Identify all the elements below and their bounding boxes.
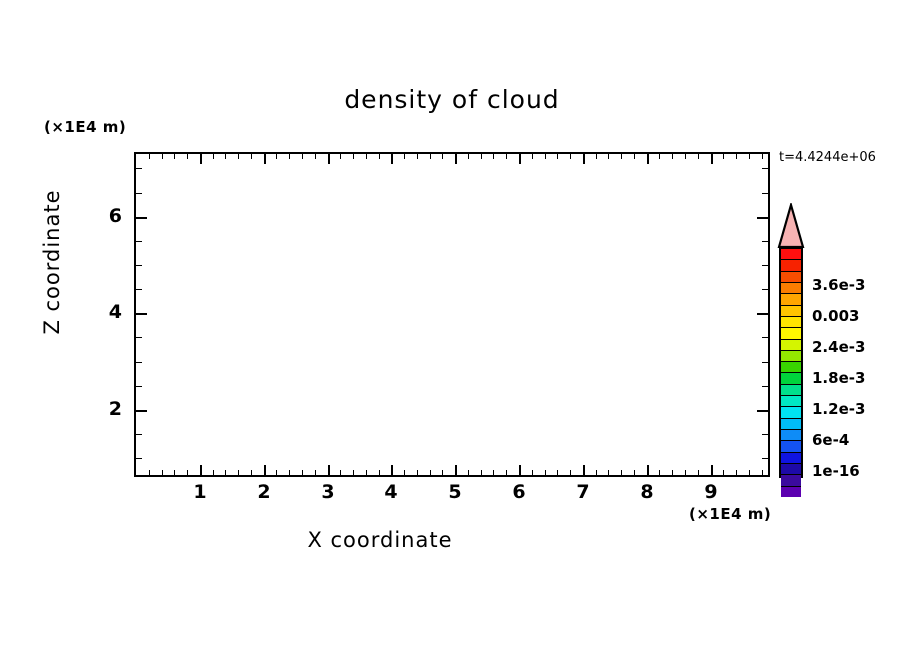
colorbar-tick-label: 1.8e-3 xyxy=(812,369,865,387)
colorbar-label-group: 1e-166e-41.2e-31.8e-32.4e-30.0033.6e-3 xyxy=(0,0,904,654)
colorbar-tick-label: 1e-16 xyxy=(812,462,860,480)
colorbar-tick-label: 0.003 xyxy=(812,307,859,325)
colorbar-tick-label: 3.6e-3 xyxy=(812,276,865,294)
colorbar-tick-label: 1.2e-3 xyxy=(812,400,865,418)
colorbar-tick-label: 2.4e-3 xyxy=(812,338,865,356)
colorbar-tick-label: 6e-4 xyxy=(812,431,849,449)
